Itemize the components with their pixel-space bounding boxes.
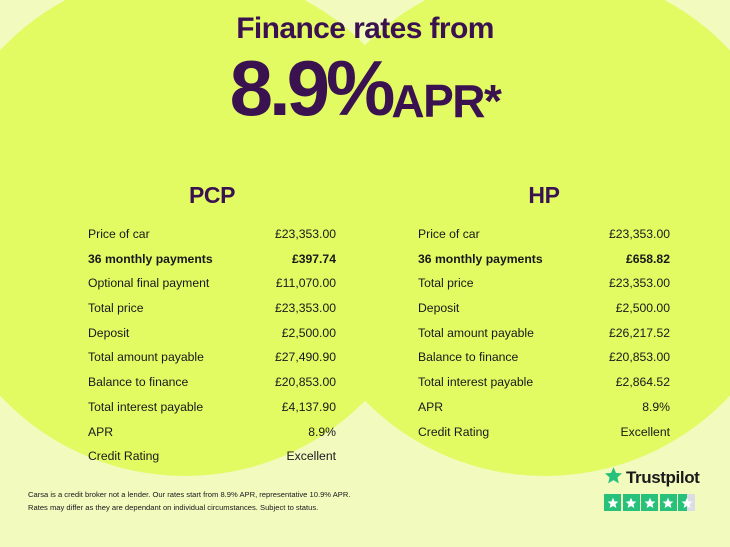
- row-label: Total interest payable: [88, 400, 203, 414]
- row-label: Total price: [88, 301, 144, 315]
- row-label: Credit Rating: [418, 425, 489, 439]
- table-rows-hp: Price of car£23,353.0036 monthly payment…: [418, 227, 670, 449]
- row-value: £4,137.90: [282, 400, 336, 414]
- row-label: Balance to finance: [418, 350, 518, 364]
- row-value: £20,853.00: [609, 350, 670, 364]
- headline-rate: 8.9% APR*: [0, 49, 730, 127]
- table-row: Price of car£23,353.00: [88, 227, 336, 252]
- table-row: APR8.9%: [418, 400, 670, 425]
- row-label: 36 monthly payments: [418, 252, 543, 266]
- row-label: Total price: [418, 276, 474, 290]
- row-value: Excellent: [621, 425, 670, 439]
- disclaimer-text: Carsa is a credit broker not a lender. O…: [28, 489, 458, 514]
- row-value: £2,500.00: [282, 326, 336, 340]
- rate-unit: APR*: [391, 78, 500, 127]
- row-value: £2,864.52: [616, 375, 670, 389]
- row-label: Price of car: [418, 227, 480, 241]
- disclaimer-line-1: Carsa is a credit broker not a lender. O…: [28, 489, 458, 502]
- row-label: Credit Rating: [88, 449, 159, 463]
- table-row: Total interest payable£4,137.90: [88, 400, 336, 425]
- row-value: £20,853.00: [275, 375, 336, 389]
- row-value: £23,353.00: [275, 227, 336, 241]
- table-row: Deposit£2,500.00: [88, 326, 336, 351]
- row-label: Deposit: [418, 301, 459, 315]
- row-value: £2,500.00: [616, 301, 670, 315]
- rating-star-icon: [604, 494, 621, 511]
- row-value: Excellent: [287, 449, 336, 463]
- table-row: APR8.9%: [88, 425, 336, 450]
- finance-table-hp: HP Price of car£23,353.0036 monthly paym…: [418, 182, 670, 449]
- table-row: Balance to finance£20,853.00: [418, 350, 670, 375]
- row-label: Balance to finance: [88, 375, 188, 389]
- table-row: Credit RatingExcellent: [418, 425, 670, 450]
- row-value: £23,353.00: [609, 276, 670, 290]
- trustpilot-label: Trustpilot: [626, 468, 699, 488]
- table-rows-pcp: Price of car£23,353.0036 monthly payment…: [88, 227, 336, 474]
- row-label: Total interest payable: [418, 375, 533, 389]
- row-value: 8.9%: [308, 425, 336, 439]
- rating-star-icon: [660, 494, 677, 511]
- rating-star-icon: [641, 494, 658, 511]
- table-row: Total amount payable£27,490.90: [88, 350, 336, 375]
- table-row: Optional final payment£11,070.00: [88, 276, 336, 301]
- row-label: Deposit: [88, 326, 129, 340]
- row-value: £397.74: [292, 252, 336, 266]
- header: Finance rates from 8.9% APR*: [0, 12, 730, 127]
- row-label: APR: [418, 400, 443, 414]
- table-row: 36 monthly payments£658.82: [418, 252, 670, 277]
- row-value: £27,490.90: [275, 350, 336, 364]
- row-label: APR: [88, 425, 113, 439]
- banner-canvas: Finance rates from 8.9% APR* PCP Price o…: [0, 0, 730, 547]
- table-row: 36 monthly payments£397.74: [88, 252, 336, 277]
- row-label: Optional final payment: [88, 276, 209, 290]
- table-row: Price of car£23,353.00: [418, 227, 670, 252]
- table-row: Total price£23,353.00: [88, 301, 336, 326]
- trustpilot-wordmark: Trustpilot: [604, 466, 699, 490]
- page-title: Finance rates from: [0, 12, 730, 45]
- table-row: Total interest payable£2,864.52: [418, 375, 670, 400]
- rating-star-icon: [678, 494, 695, 511]
- finance-table-pcp: PCP Price of car£23,353.0036 monthly pay…: [88, 182, 336, 474]
- table-row: Total amount payable£26,217.52: [418, 326, 670, 351]
- row-value: £658.82: [626, 252, 670, 266]
- row-value: 8.9%: [642, 400, 670, 414]
- row-value: £23,353.00: [275, 301, 336, 315]
- row-label: Price of car: [88, 227, 150, 241]
- table-row: Deposit£2,500.00: [418, 301, 670, 326]
- row-value: £11,070.00: [276, 276, 336, 290]
- table-row: Total price£23,353.00: [418, 276, 670, 301]
- trustpilot-rating-stars: [604, 494, 699, 511]
- trustpilot-star-icon: [604, 466, 623, 490]
- rating-star-icon: [623, 494, 640, 511]
- table-row: Balance to finance£20,853.00: [88, 375, 336, 400]
- rate-value: 8.9%: [230, 49, 392, 127]
- row-label: Total amount payable: [418, 326, 534, 340]
- table-heading-pcp: PCP: [88, 182, 336, 209]
- trustpilot-badge[interactable]: Trustpilot: [604, 466, 699, 511]
- table-row: Credit RatingExcellent: [88, 449, 336, 474]
- row-label: Total amount payable: [88, 350, 204, 364]
- disclaimer-line-2: Rates may differ as they are dependant o…: [28, 502, 458, 515]
- table-heading-hp: HP: [418, 182, 670, 209]
- row-value: £23,353.00: [609, 227, 670, 241]
- row-value: £26,217.52: [609, 326, 670, 340]
- row-label: 36 monthly payments: [88, 252, 213, 266]
